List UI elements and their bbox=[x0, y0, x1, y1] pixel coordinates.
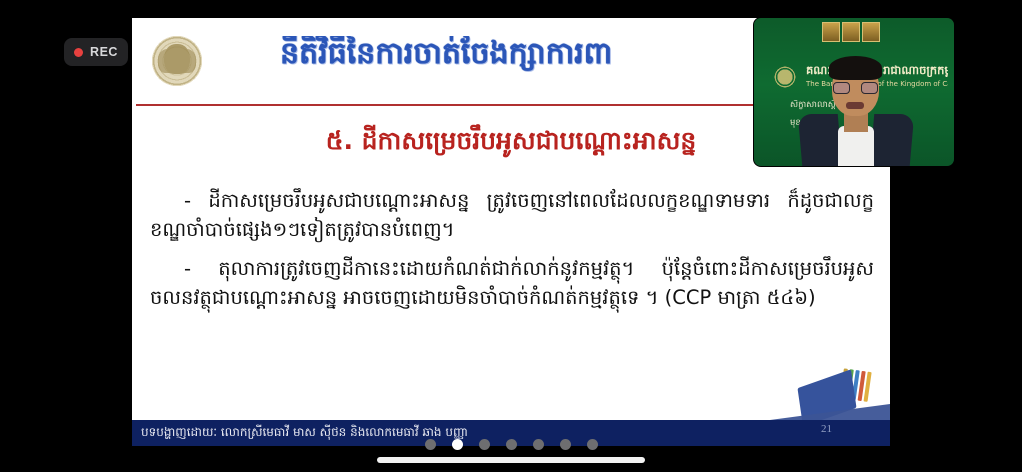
hair bbox=[829, 56, 882, 80]
bar-association-seal-icon bbox=[768, 60, 802, 94]
pagination-dot[interactable] bbox=[587, 439, 598, 450]
jacket-left bbox=[798, 114, 843, 166]
recording-label: REC bbox=[90, 45, 118, 59]
speaker-video-overlay[interactable]: គណៈមេធាវីនៃព្រះរាជាណាចក្រកម្ពុជា The Bar… bbox=[754, 18, 954, 166]
slide-paragraph: - តុលាការត្រូវចេញដីកានេះដោយកំណត់ជាក់លាក់… bbox=[150, 254, 874, 313]
glasses-icon bbox=[833, 82, 878, 94]
pagination-dots[interactable] bbox=[0, 439, 1022, 450]
pagination-dot[interactable] bbox=[506, 439, 517, 450]
pagination-dot[interactable] bbox=[452, 439, 463, 450]
slide-body: - ដីកាសម្រេចរឹបអូសជាបណ្ដោះអាសន្ន ត្រូវចេ… bbox=[150, 186, 874, 312]
jacket-right bbox=[870, 114, 915, 166]
home-indicator[interactable] bbox=[377, 457, 645, 463]
footer-swoop-decoration bbox=[770, 404, 890, 420]
slide-paragraph: - ដីកាសម្រេចរឹបអូសជាបណ្ដោះអាសន្ន ត្រូវចេ… bbox=[150, 186, 874, 245]
pencils-group bbox=[838, 364, 872, 402]
pagination-dot[interactable] bbox=[560, 439, 571, 450]
pagination-dot[interactable] bbox=[425, 439, 436, 450]
screen-background: REC នីតិវិធីនៃការចាត់ចែងក្សាការពា ៥. ដីក… bbox=[0, 0, 1022, 472]
royal-portraits-icon bbox=[822, 22, 880, 42]
speaker-figure bbox=[806, 46, 906, 166]
pagination-dot[interactable] bbox=[479, 439, 490, 450]
pagination-dot[interactable] bbox=[533, 439, 544, 450]
recording-badge: REC bbox=[64, 38, 128, 66]
slide-number: 21 bbox=[821, 423, 832, 435]
bar-association-emblem-icon bbox=[140, 24, 214, 98]
record-dot-icon bbox=[74, 48, 83, 57]
mouth bbox=[846, 102, 864, 109]
shirt bbox=[838, 126, 874, 166]
